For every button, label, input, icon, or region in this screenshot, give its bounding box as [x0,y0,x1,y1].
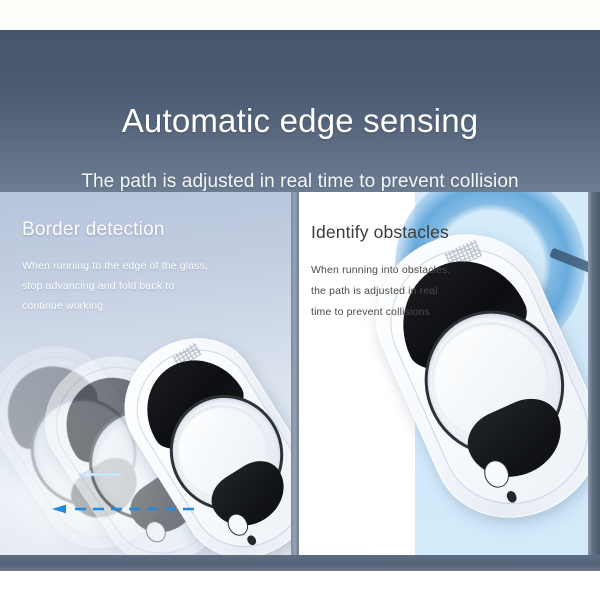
panel-left-body-line: stop advancing and fold back to [22,276,272,296]
panel-right-body-line: When running into obstacles, [311,260,521,281]
hero-banner: Automatic edge sensing The path is adjus… [0,30,600,192]
panel-divider [291,192,299,555]
solid-arrow-icon [78,466,122,475]
bottom-shadow-band [0,555,600,571]
panel-right-body-line: time to prevent collisions [311,302,521,323]
bottom-white-strip [0,571,600,600]
feature-panels: Border detection When running to the edg… [0,192,600,555]
page-subtitle: The path is adjusted in real time to pre… [0,171,600,193]
panel-left-body-line: When running to the edge of the glass, [22,256,272,276]
panel-left-body-line: continue working [22,296,272,316]
panel-border-detection: Border detection When running to the edg… [0,192,291,555]
right-edge-bevel [588,192,600,555]
panel-left-heading: Border detection [22,219,165,241]
panel-right-body-line: the path is adjusted in real [311,281,521,302]
page-title: Automatic edge sensing [0,102,600,140]
panel-right-heading: Identify obstacles [311,222,449,243]
panel-left-body: When running to the edge of the glass, s… [22,256,272,316]
product-feature-image: Automatic edge sensing The path is adjus… [0,0,600,600]
panel-identify-obstacles: Identify obstacles When running into obs… [299,192,588,555]
top-white-strip [0,0,600,30]
panel-right-body: When running into obstacles, the path is… [311,260,521,323]
dashed-arrow-icon [48,501,194,511]
